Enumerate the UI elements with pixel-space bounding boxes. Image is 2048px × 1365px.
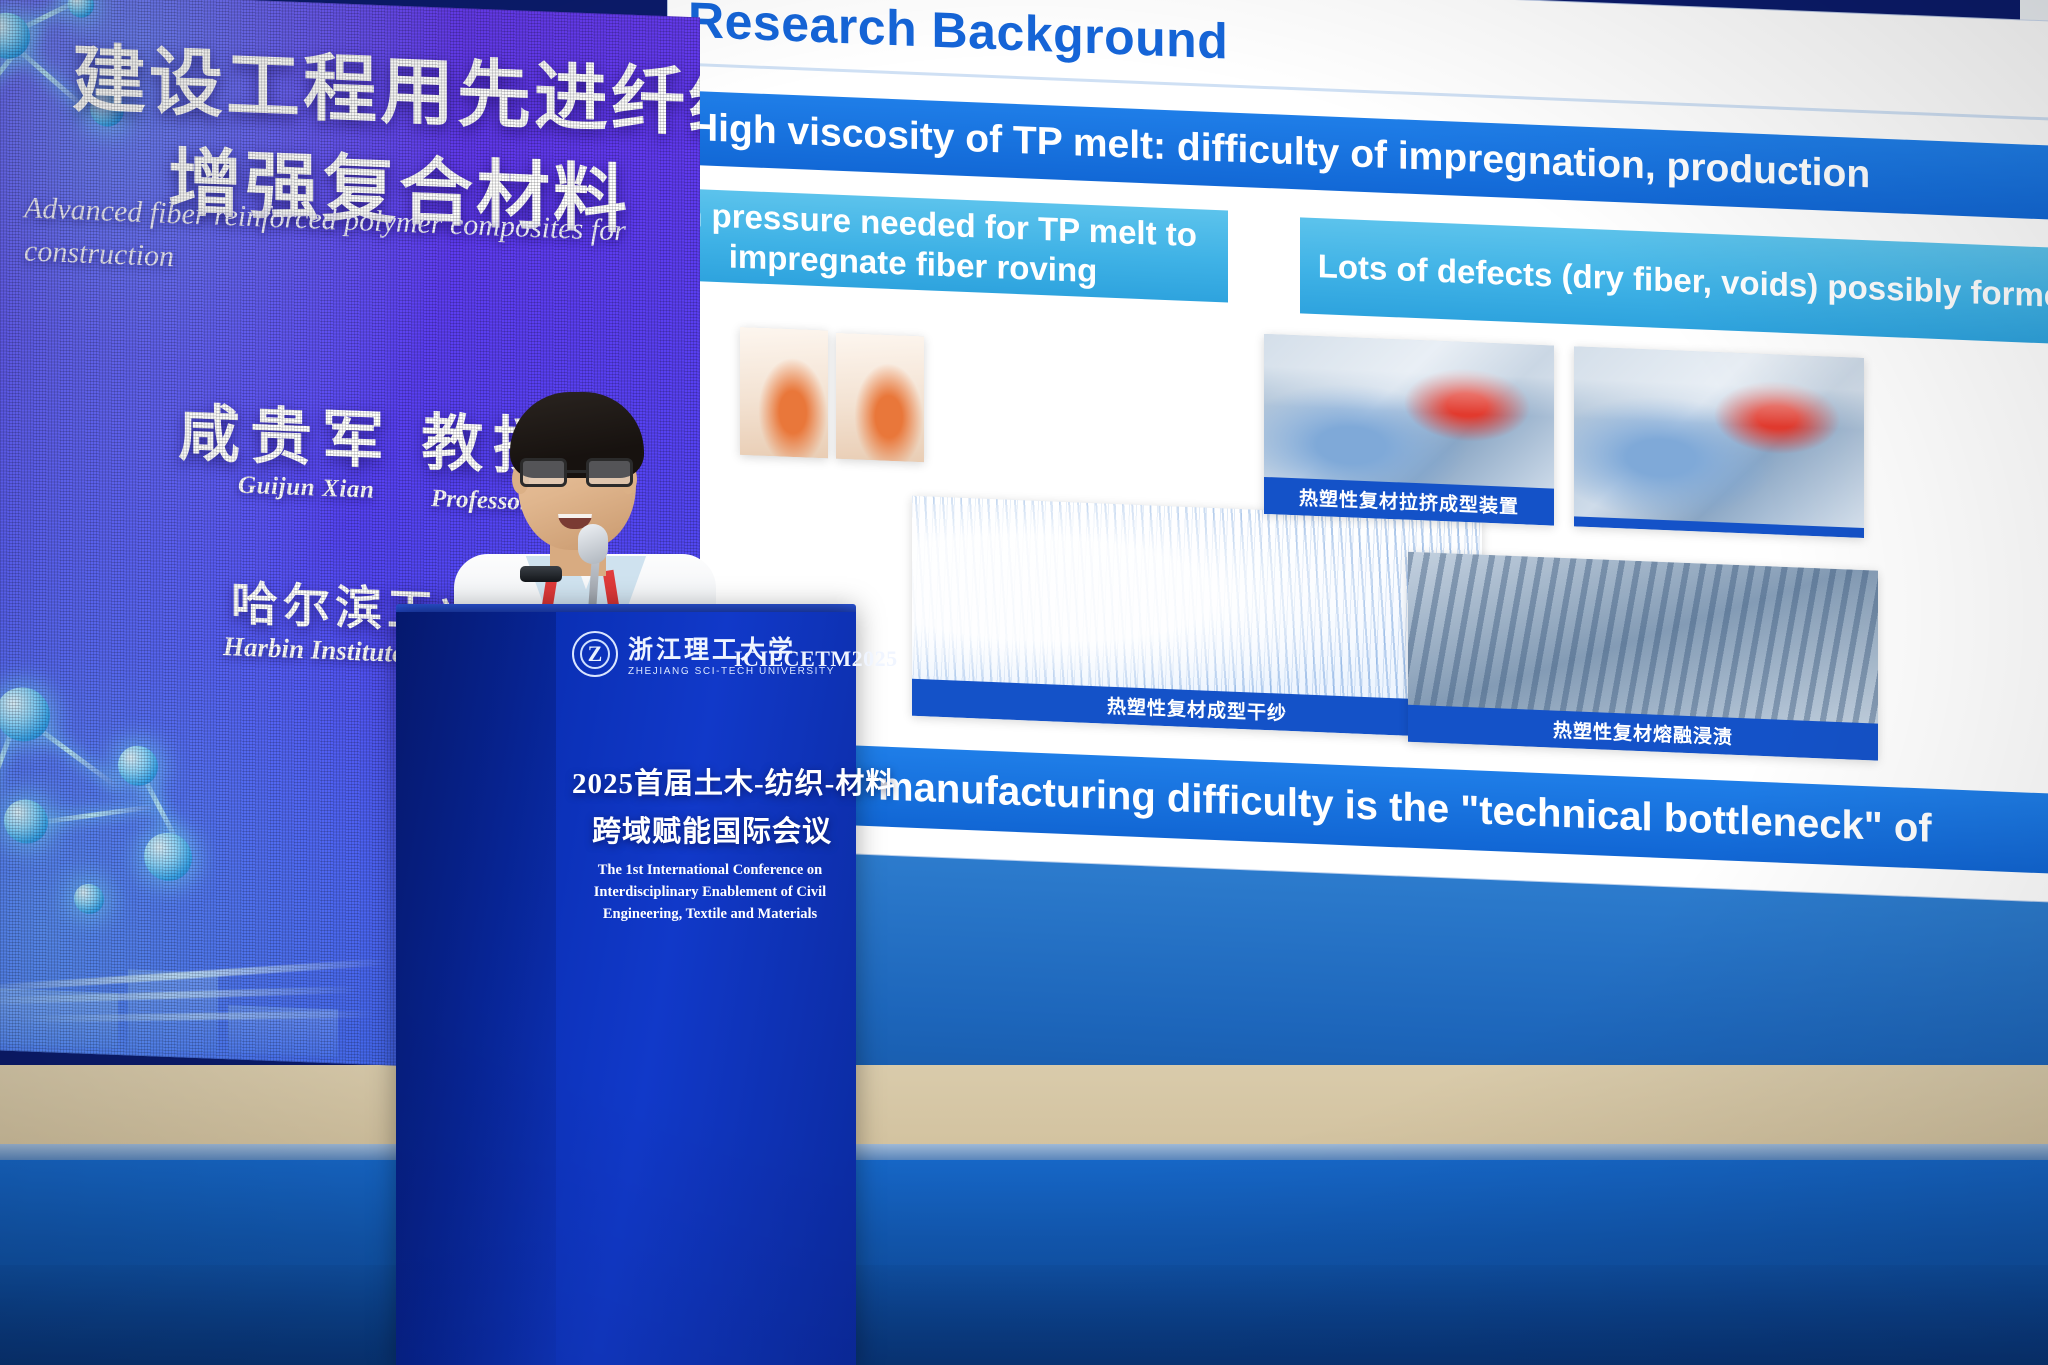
glasses-icon — [520, 458, 636, 488]
conference-scene: Research Background High viscosity of TP… — [0, 0, 2048, 1365]
slide-headline-text: High viscosity of TP melt: difficulty of… — [668, 105, 1870, 197]
slide-title: Research Background — [688, 0, 1228, 71]
stage-edge — [0, 1144, 2048, 1160]
slide-photo-dry-fiber: 热塑性复材成型干纱 — [912, 496, 1482, 739]
conference-title-cn-line2: 跨域赋能国际会议 — [572, 808, 852, 850]
conference-code: ICIECETM2025 — [734, 646, 898, 672]
stage-skirt-shadow — [0, 1265, 2048, 1365]
slide-box-right: Lots of defects (dry fiber, voids) possi… — [1300, 217, 2048, 345]
conference-title-cn-line1: 2025首届土木-纺织-材料 — [572, 760, 852, 802]
slide-box-left: High pressure needed for TP melt to impr… — [668, 185, 1228, 302]
speaker-person — [470, 398, 700, 638]
zstu-logo-icon — [572, 631, 618, 677]
podium-side-shadow — [396, 612, 556, 1365]
slide-photo-impregnation: 热塑性复材熔融浸渍 — [1408, 552, 1878, 761]
conference-title-en: The 1st International Conference on Inte… — [572, 860, 848, 925]
slide-photo-resin-b — [836, 333, 924, 463]
light-trail-graphic-icon — [0, 860, 418, 1067]
slide-photo-resin-a — [740, 327, 828, 459]
slide-photo-equipment — [1574, 346, 1864, 538]
microphone-icon — [578, 524, 608, 564]
slide-photo-pultrusion: 热塑性复材拉挤成型装置 — [1264, 334, 1554, 526]
presentation-clicker — [520, 566, 562, 582]
banner-speaker-name-en: Guijun Xian — [238, 472, 375, 505]
